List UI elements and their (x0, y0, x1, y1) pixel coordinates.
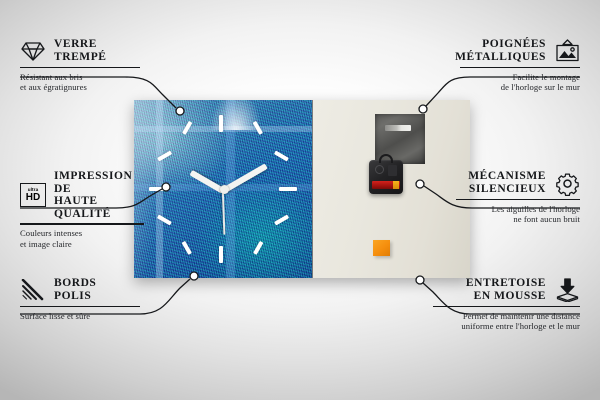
callout-title: POIGNÉES MÉTALLIQUES (455, 38, 546, 63)
callout-mecanisme-silencieux: MÉCANISME SILENCIEUX Les aiguilles de l'… (456, 170, 580, 225)
callout-entretoise-en-mousse: ENTRETOISE EN MOUSSE Permet de maintenir… (433, 277, 580, 332)
battery-positive-terminal (393, 181, 399, 189)
callout-divider (456, 199, 580, 200)
callout-divider (20, 306, 140, 307)
product-photo (134, 100, 470, 278)
mechanism-dial (375, 165, 384, 174)
callout-divider (20, 223, 144, 224)
gear-icon (554, 170, 580, 196)
callout-title: ENTRETOISE EN MOUSSE (466, 277, 546, 302)
callout-divider (433, 306, 580, 307)
polished-edge-icon (20, 277, 46, 303)
callout-subtitle: Couleurs intenses et image claire (20, 228, 144, 249)
callout-verre-trempe: VERRE TREMPÉ Résistant aux bris et aux é… (20, 38, 140, 93)
infographic-canvas: VERRE TREMPÉ Résistant aux bris et aux é… (0, 0, 600, 400)
callout-bords-polis: BORDS POLIS Surface lisse et sûre (20, 277, 140, 321)
callout-subtitle: Les aiguilles de l'horloge ne font aucun… (456, 204, 580, 225)
callout-poignees-metalliques: POIGNÉES MÉTALLIQUES Facilite le montage… (460, 38, 580, 93)
foam-spacer (373, 240, 390, 256)
callout-divider (20, 67, 140, 68)
clock-tick (219, 246, 223, 263)
callout-subtitle: Facilite le montage de l'horloge sur le … (460, 72, 580, 93)
picture-hanger-icon (554, 38, 580, 64)
clock-back-panel (312, 100, 470, 278)
callout-subtitle: Résistant aux bris et aux égratignures (20, 72, 140, 93)
callout-title: IMPRESSION DE HAUTE QUALITÉ (54, 170, 144, 220)
mechanism-housing-detail (388, 165, 397, 176)
clock-tick (279, 187, 297, 191)
callout-impression-haute-qualite: ultra HD IMPRESSION DE HAUTE QUALITÉ Cou… (20, 170, 144, 249)
callout-title: MÉCANISME SILENCIEUX (468, 170, 546, 195)
callout-title: BORDS POLIS (54, 277, 96, 302)
clock-hand-cap (220, 185, 229, 194)
clock-tick (219, 115, 223, 132)
foam-spacer-icon (554, 277, 580, 303)
mechanism-battery (372, 181, 400, 189)
callout-title: VERRE TREMPÉ (54, 38, 107, 63)
quartz-mechanism (369, 160, 403, 194)
callout-divider (460, 67, 580, 68)
hanger-keyhole-slot (385, 125, 411, 131)
diamond-icon (20, 38, 46, 64)
callout-subtitle: Surface lisse et sûre (20, 311, 140, 321)
clock-tick (149, 187, 167, 191)
callout-subtitle: Permet de maintenir une distance uniform… (433, 311, 580, 332)
mechanism-hanging-loop (379, 154, 393, 163)
ultra-hd-icon: ultra HD (20, 183, 46, 207)
glass-clock-face (134, 100, 312, 278)
